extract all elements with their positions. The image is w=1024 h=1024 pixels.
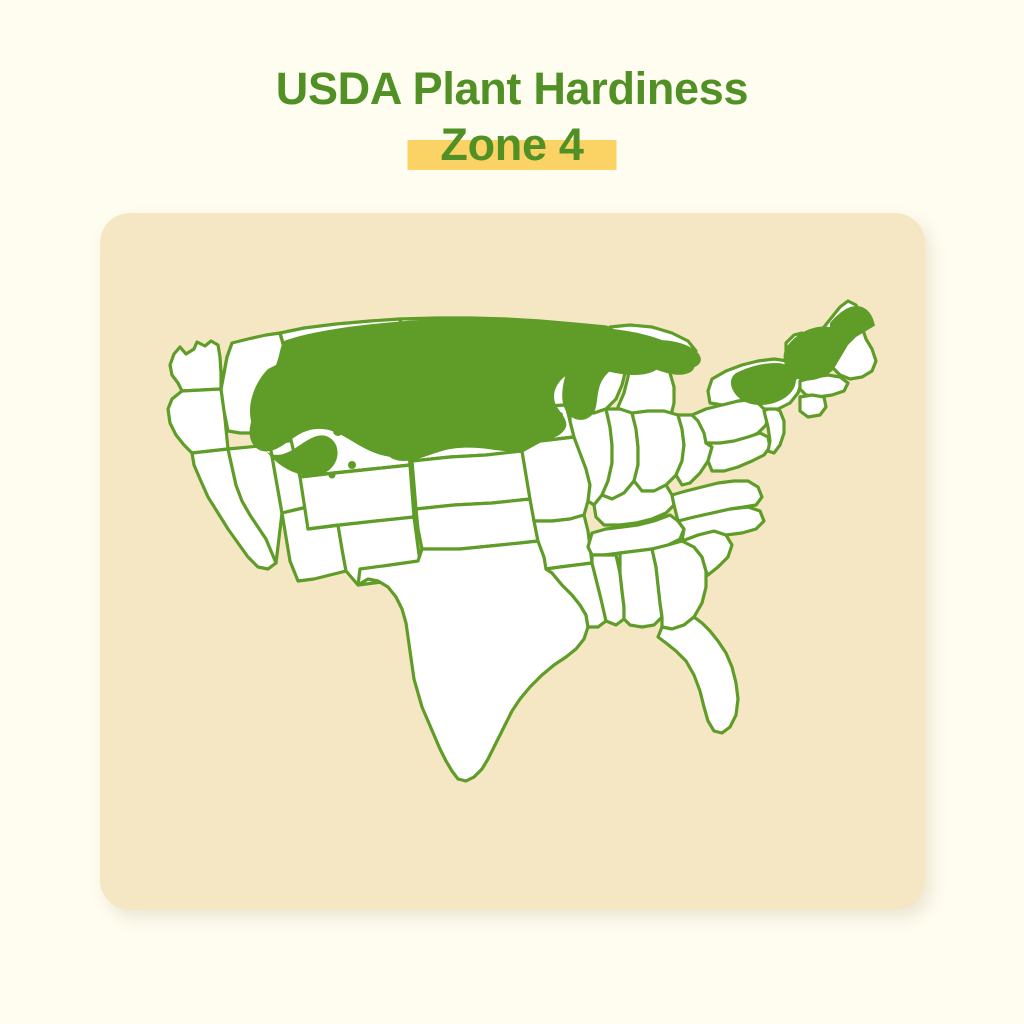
zone-patch-island-9 bbox=[489, 422, 495, 428]
title-block: USDA Plant Hardiness Zone 4 bbox=[0, 66, 1024, 174]
zone-patch-island-2 bbox=[348, 461, 356, 469]
state-florida bbox=[658, 617, 738, 733]
state-connecticut bbox=[800, 395, 826, 417]
usa-hardiness-map bbox=[100, 213, 925, 910]
page-title-line-2-wrap: Zone 4 bbox=[0, 122, 1024, 174]
zone-patch-island-5 bbox=[367, 440, 373, 446]
page-title-line-2: Zone 4 bbox=[430, 122, 593, 167]
state-washington bbox=[170, 341, 221, 391]
zone-patch-island-4 bbox=[311, 454, 317, 460]
zone-patch-island-10 bbox=[525, 416, 532, 423]
zone-patch-island-1 bbox=[333, 426, 343, 436]
zone-patch-island-11 bbox=[557, 412, 563, 418]
zone-patch-island-12 bbox=[756, 385, 764, 393]
zone-patch-island-7 bbox=[417, 424, 424, 431]
zone-patch-island-13 bbox=[797, 360, 804, 367]
zone-patch-island-8 bbox=[453, 420, 459, 426]
page-title-line-1: USDA Plant Hardiness bbox=[0, 66, 1024, 111]
state-oregon bbox=[168, 389, 228, 453]
map-card bbox=[100, 213, 925, 910]
page-root: USDA Plant Hardiness Zone 4 bbox=[0, 0, 1024, 1024]
state-ohio bbox=[632, 411, 684, 491]
